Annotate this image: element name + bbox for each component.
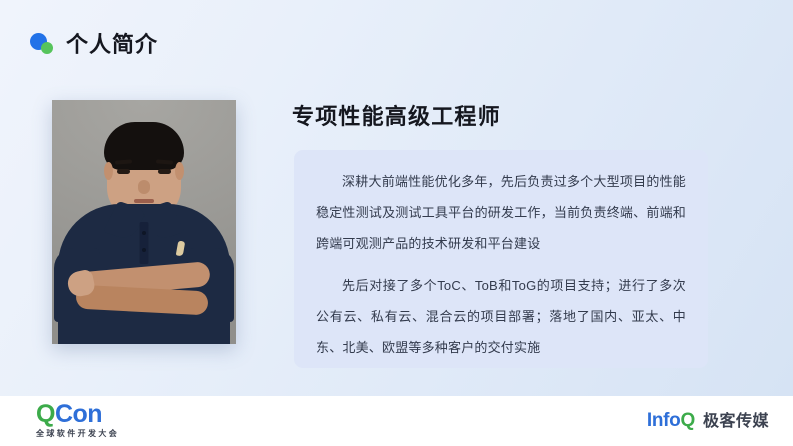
portrait-button-bottom bbox=[142, 248, 146, 252]
infoq-logo: InfoQ 极客传媒 bbox=[647, 411, 769, 430]
portrait-eye-left bbox=[117, 169, 130, 174]
job-title-headline: 专项性能高级工程师 bbox=[292, 104, 501, 130]
presentation-slide: 个人简介 bbox=[0, 0, 793, 446]
infoq-chinese-name: 极客传媒 bbox=[703, 414, 769, 430]
qcon-letter-q: Q bbox=[36, 400, 55, 428]
slide-content-area: 个人简介 bbox=[0, 0, 793, 396]
portrait-ear-left bbox=[104, 162, 113, 180]
slide-header: 个人简介 bbox=[30, 28, 158, 62]
two-circles-bullet-icon bbox=[30, 32, 56, 58]
page-title: 个人简介 bbox=[66, 34, 158, 56]
bio-paragraph-1: 深耕大前端性能优化多年，先后负责过多个大型项目的性能稳定性测试及测试工具平台的研… bbox=[316, 166, 686, 259]
slide-footer: QCon 全球软件开发大会 InfoQ 极客传媒 bbox=[0, 396, 793, 446]
qcon-letters-con: Con bbox=[55, 400, 102, 428]
portrait-placket bbox=[140, 222, 149, 264]
portrait-mouth bbox=[134, 199, 154, 203]
qcon-logo: QCon 全球软件开发大会 bbox=[36, 402, 119, 438]
qcon-subtitle: 全球软件开发大会 bbox=[36, 430, 119, 438]
portrait-eye-right bbox=[158, 169, 171, 174]
portrait-nose bbox=[138, 180, 150, 194]
bio-paragraph-2: 先后对接了多个ToC、ToB和ToG的项目支持；进行了多次公有云、私有云、混合云… bbox=[316, 270, 686, 363]
infoq-letter-q: Q bbox=[681, 410, 695, 431]
bio-card: 深耕大前端性能优化多年，先后负责过多个大型项目的性能稳定性测试及测试工具平台的研… bbox=[294, 150, 708, 368]
infoq-letters-info: Info bbox=[647, 410, 681, 431]
qcon-wordmark: QCon bbox=[36, 402, 119, 427]
infoq-wordmark: InfoQ bbox=[647, 411, 695, 430]
portrait-image bbox=[52, 100, 236, 344]
portrait-button-top bbox=[142, 231, 146, 235]
green-circle-icon bbox=[41, 42, 53, 54]
portrait-ear-right bbox=[175, 162, 184, 180]
speaker-portrait-photo bbox=[52, 100, 236, 344]
